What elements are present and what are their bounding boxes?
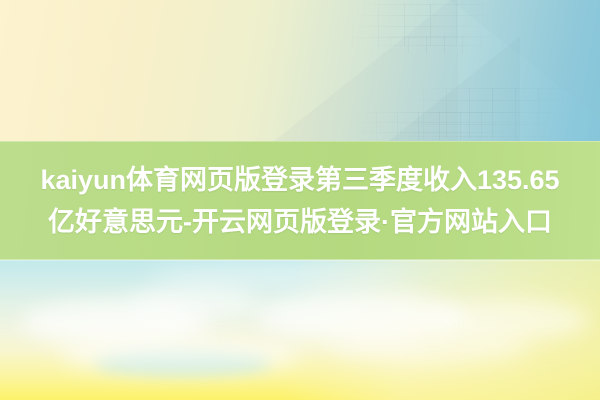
cloud-shape [60,336,300,374]
page-title: kaiyun体育网页版登录第三季度收入135.65亿好意思元-开云网页版登录·官… [35,159,565,243]
cloud-shape [130,286,260,320]
title-band: kaiyun体育网页版登录第三季度收入135.65亿好意思元-开云网页版登录·官… [0,141,600,260]
decorative-grid-texture [334,112,534,140]
decorative-grid-texture [372,36,500,54]
band-underline [0,259,600,261]
cloud-shape [150,262,410,288]
cloud-shape [330,330,530,364]
title-banner: kaiyun体育网页版登录第三季度收入135.65亿好意思元-开云网页版登录·官… [0,0,600,400]
